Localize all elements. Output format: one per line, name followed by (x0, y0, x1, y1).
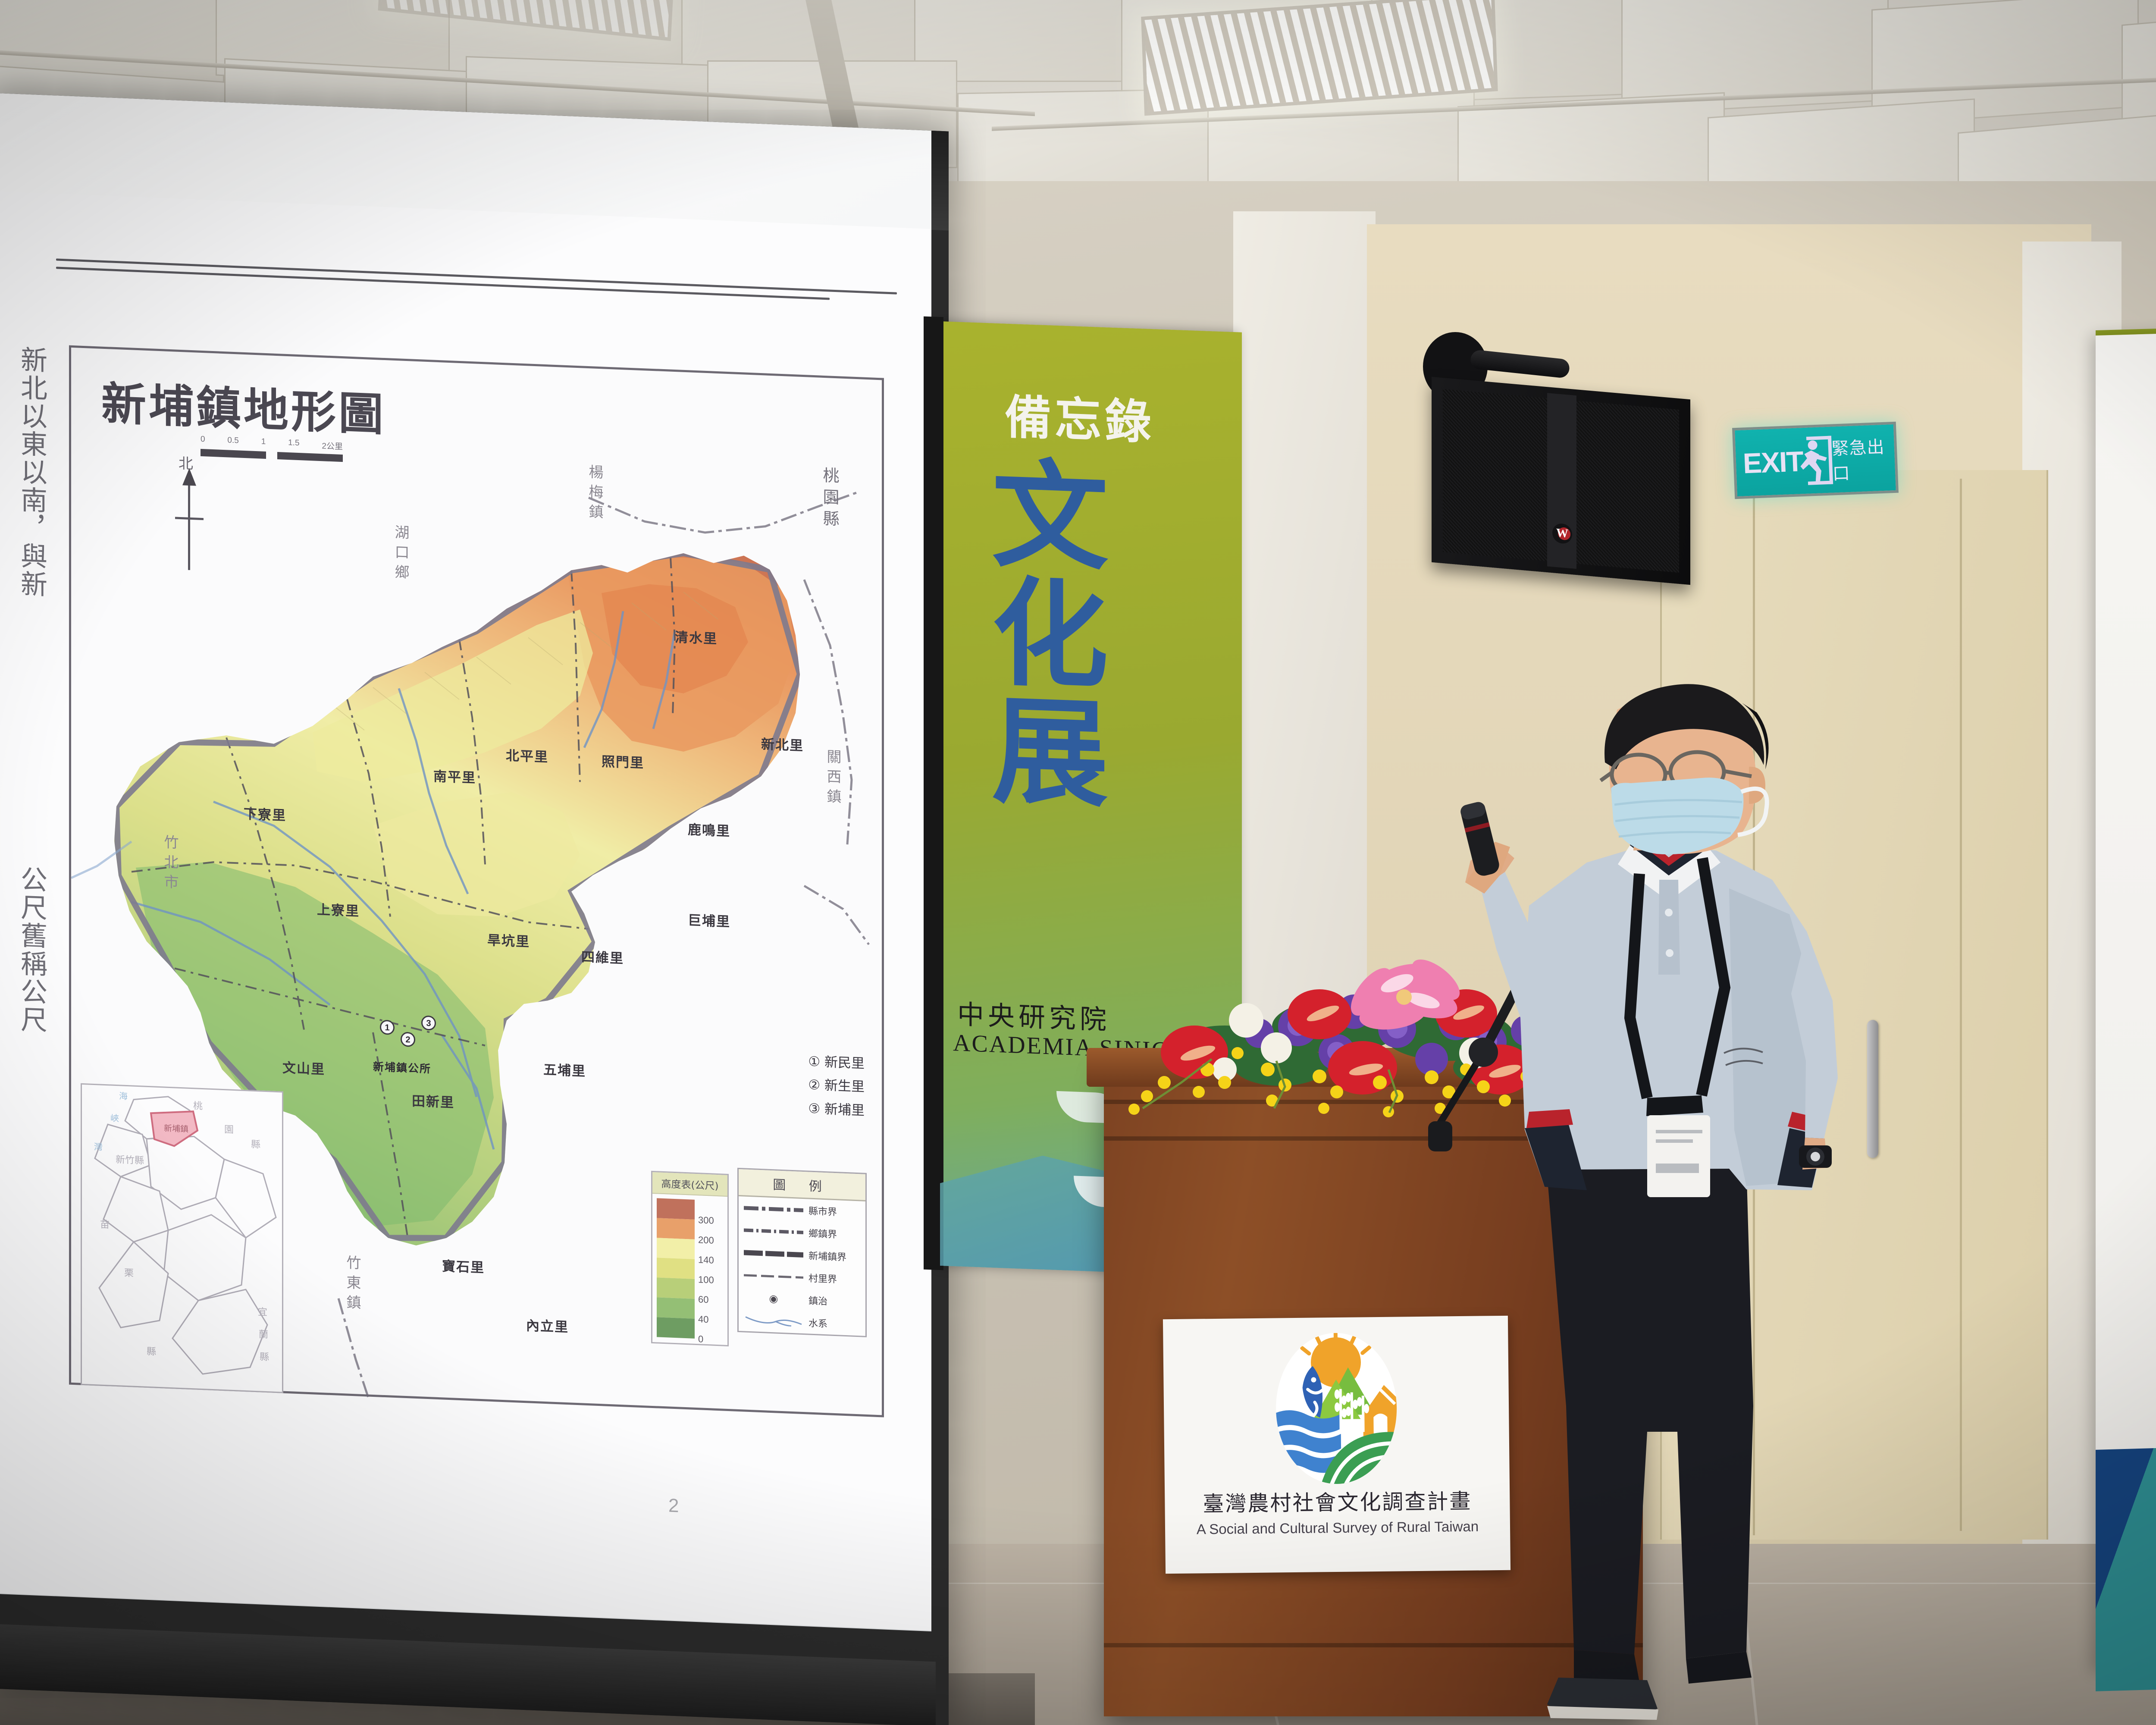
village-number-marker: 2 (401, 1032, 415, 1047)
map-legend: 圖 例 縣市界 鄉鎮界 新埔鎮界 (737, 1168, 867, 1337)
presentation-room-scene: 新北以東以南，與新 公尺舊稱公尺 2 新埔鎮地形圖 0 0.5 1 1.5 2公… (0, 0, 2156, 1725)
map-legend-title: 圖 例 (739, 1169, 865, 1201)
teal-wall-panel (2096, 1436, 2156, 1691)
slide-text-column-1: 新北以東以南，與新 (0, 344, 47, 800)
legend-label: 新埔鎮界 (808, 1248, 846, 1264)
running-person-exit-icon (1802, 436, 1833, 485)
screen-surface: 新北以東以南，與新 公尺舊稱公尺 2 新埔鎮地形圖 0 0.5 1 1.5 2公… (0, 93, 931, 1631)
external-label: 桃園縣 (818, 466, 842, 532)
elev-tick: 0 (698, 1333, 703, 1345)
presenter (1445, 673, 1876, 1725)
xinpu-boundary-symbol (744, 1250, 803, 1258)
village-boundary-symbol (744, 1274, 803, 1279)
svg-text:苗: 苗 (100, 1220, 110, 1231)
slide-content: 新北以東以南，與新 公尺舊稱公尺 2 新埔鎮地形圖 0 0.5 1 1.5 2公… (0, 191, 931, 1631)
svg-text:縣: 縣 (251, 1139, 260, 1151)
legend-label: 水系 (808, 1316, 827, 1330)
svg-text:園: 園 (224, 1124, 234, 1135)
wall-speaker-icon: W (1432, 377, 1690, 585)
svg-text:峽: 峽 (110, 1113, 119, 1123)
village-label: 巨埔里 (688, 909, 730, 930)
village-label: 五埔里 (543, 1059, 586, 1080)
banner-subtitle: 備忘錄 (1005, 380, 1155, 453)
banner-title: 文化展 (979, 452, 1100, 995)
exit-sign: EXIT 緊急出口 (1732, 422, 1899, 499)
legend-label: 縣市界 (808, 1204, 837, 1219)
slide-text-column-2: 公尺舊稱公尺 (0, 864, 47, 1073)
external-label: 湖口鄉 (390, 524, 411, 585)
village-label: 寶石里 (442, 1255, 485, 1276)
elev-tick: 300 (698, 1214, 714, 1226)
village-label: 北平里 (506, 744, 548, 765)
inset-locator-map: 桃 園 縣 新竹縣 苗 栗 縣 宜 蘭 縣 (81, 1083, 283, 1393)
svg-text:桃: 桃 (193, 1101, 203, 1112)
svg-text:縣: 縣 (260, 1352, 269, 1363)
village-label: 上寮里 (317, 899, 360, 920)
elev-tick: 140 (698, 1254, 714, 1266)
legend-label: 村里界 (808, 1271, 837, 1286)
key-label: 新埔里 (824, 1101, 865, 1118)
village-label: 清水里 (675, 626, 718, 647)
key-num: ③ (808, 1101, 820, 1117)
svg-text:宜: 宜 (258, 1307, 267, 1318)
external-label: 楊梅鎮 (584, 464, 605, 524)
slide-page-number: 2 (668, 1495, 679, 1517)
elevation-swatches (657, 1198, 695, 1339)
village-label: 田新里 (412, 1090, 454, 1111)
elev-tick: 100 (698, 1274, 714, 1286)
village-label: 鹿鳴里 (688, 819, 730, 840)
township-boundary-symbol (744, 1228, 803, 1234)
podium-sign-en: A Social and Cultural Survey of Rural Ta… (1197, 1518, 1479, 1538)
exit-sign-label: EXIT (1742, 445, 1804, 480)
village-label: 南平里 (433, 765, 476, 787)
svg-text:栗: 栗 (124, 1268, 134, 1279)
village-label: 新北里 (761, 733, 804, 754)
legend-label: 鎮治 (808, 1293, 827, 1308)
banner-black-edge (924, 317, 943, 1270)
map-figure: 新埔鎮地形圖 0 0.5 1 1.5 2公里 北 (69, 345, 884, 1418)
legend-row: 水系 (739, 1308, 865, 1336)
svg-text:灣: 灣 (94, 1142, 103, 1152)
river-symbol (744, 1315, 803, 1327)
elevation-legend: 高度表(公尺) (651, 1171, 729, 1346)
village-number-marker: 3 (421, 1015, 436, 1030)
village-number-key: ① 新民里 ② 新生里 ③ 新埔里 (808, 1050, 865, 1122)
village-label: 四維里 (581, 946, 624, 967)
village-label: 旱坑里 (487, 929, 530, 950)
svg-text:新埔鎮: 新埔鎮 (164, 1123, 188, 1134)
svg-text:蘭: 蘭 (259, 1329, 268, 1340)
key-num: ① (808, 1054, 820, 1069)
village-label: 照門里 (602, 750, 644, 772)
elevation-ticks: 300 200 140 100 60 40 0 (695, 1200, 724, 1340)
town-hall-label: 新埔鎮公所 (373, 1058, 431, 1076)
county-boundary-symbol (744, 1206, 803, 1212)
elev-tick: 200 (698, 1234, 714, 1246)
legend-label: 鄉鎮界 (808, 1226, 837, 1241)
elevation-legend-title: 高度表(公尺) (652, 1172, 727, 1197)
elev-tick: 40 (698, 1314, 708, 1325)
rural-taiwan-survey-logo (1271, 1328, 1402, 1489)
external-label: 關西鎮 (822, 749, 843, 809)
svg-text:新竹縣: 新竹縣 (116, 1154, 144, 1167)
key-label: 新民里 (824, 1054, 865, 1072)
village-number-marker: 1 (380, 1020, 395, 1035)
village-label: 下寮里 (244, 803, 286, 824)
village-label: 內立里 (526, 1314, 569, 1336)
elev-tick: 60 (698, 1294, 708, 1305)
key-label: 新生里 (824, 1078, 865, 1095)
key-num: ② (808, 1077, 820, 1093)
podium-sign-zh: 臺灣農村社會文化調查計畫 (1203, 1484, 1472, 1518)
town-hall-dot-icon: ◉ (744, 1291, 803, 1306)
svg-text:海: 海 (119, 1091, 128, 1101)
external-label: 竹北市 (160, 834, 181, 894)
svg-text:縣: 縣 (147, 1346, 156, 1358)
exit-sign-label-zh: 緊急出口 (1831, 433, 1889, 485)
slide-top-rules (56, 258, 897, 303)
village-label: 文山里 (282, 1057, 325, 1078)
projection-screen: 新北以東以南，與新 公尺舊稱公尺 2 新埔鎮地形圖 0 0.5 1 1.5 2公… (0, 93, 949, 1725)
external-label: 竹東鎮 (342, 1255, 363, 1315)
